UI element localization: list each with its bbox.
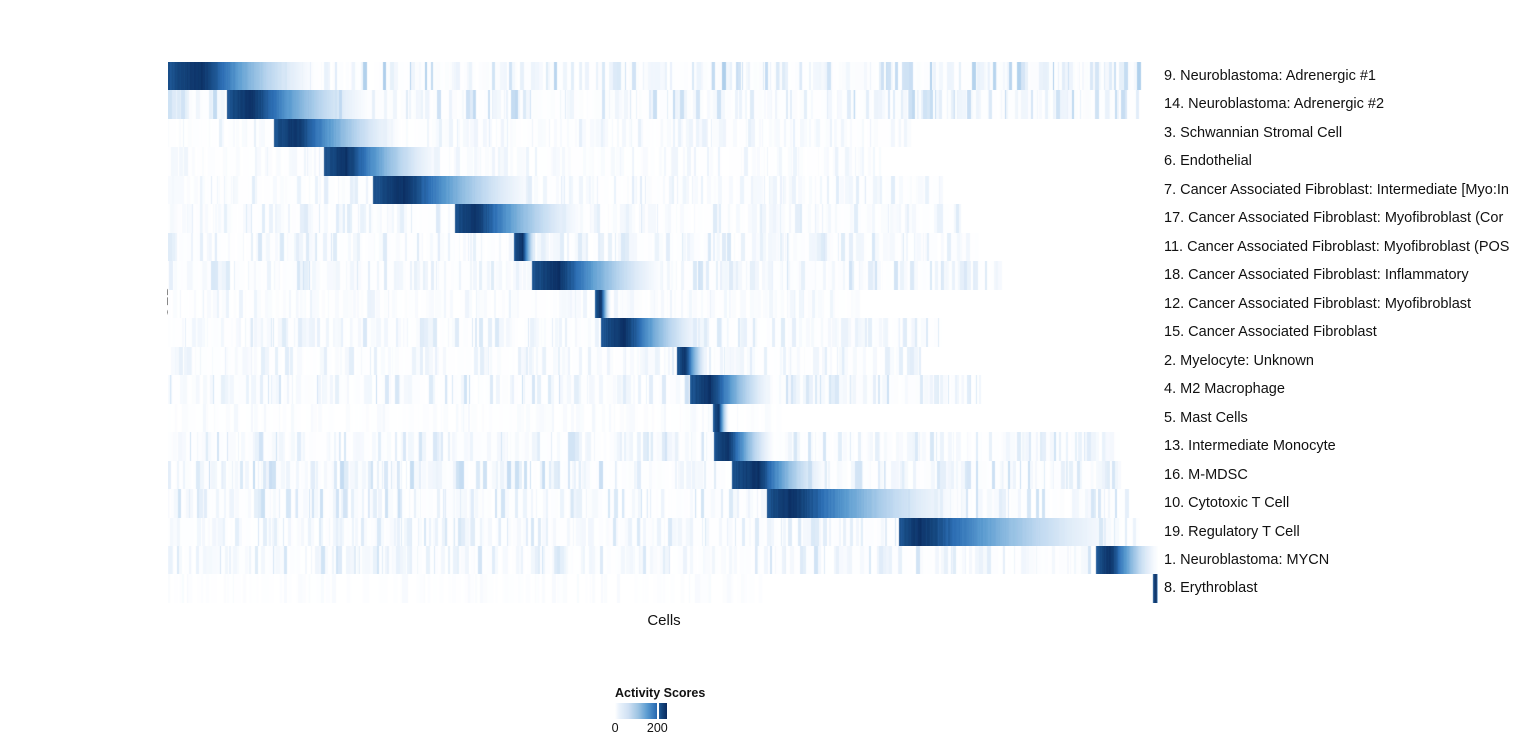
heatmap-row [168, 90, 1158, 118]
heatmap-row [168, 546, 1158, 574]
heatmap-figure: GEPs Cells 9. Neuroblastoma: Adrenergic … [0, 0, 1540, 743]
row-label: 12. Cancer Associated Fibroblast: Myofib… [1164, 290, 1471, 318]
heatmap-row [168, 461, 1158, 489]
heatmap-row-cells [168, 204, 1158, 232]
heatmap-row-cells [168, 119, 1158, 147]
heatmap-row-cells [168, 489, 1158, 517]
row-label: 16. M-MDSC [1164, 461, 1248, 489]
heatmap-row-cells [168, 90, 1158, 118]
heatmap-row [168, 204, 1158, 232]
legend-colorbar [615, 703, 667, 719]
heatmap-row [168, 347, 1158, 375]
heatmap-row-cells [168, 404, 1158, 432]
row-label: 9. Neuroblastoma: Adrenergic #1 [1164, 62, 1376, 90]
legend-tick-label: 0 [612, 721, 619, 735]
row-label: 14. Neuroblastoma: Adrenergic #2 [1164, 90, 1384, 118]
heatmap-row-cells [168, 347, 1158, 375]
row-label: 17. Cancer Associated Fibroblast: Myofib… [1164, 204, 1503, 232]
heatmap-row [168, 518, 1158, 546]
heatmap-row [168, 489, 1158, 517]
row-label: 11. Cancer Associated Fibroblast: Myofib… [1164, 233, 1509, 261]
heatmap-row [168, 147, 1158, 175]
heatmap-row-cells [168, 62, 1158, 90]
heatmap-row-cells [168, 147, 1158, 175]
heatmap-row [168, 261, 1158, 289]
heatmap-row [168, 119, 1158, 147]
row-label: 13. Intermediate Monocyte [1164, 432, 1336, 460]
heatmap-row-cells [168, 318, 1158, 346]
legend-tick-label: 200 [647, 721, 668, 735]
heatmap-row [168, 318, 1158, 346]
row-label: 6. Endothelial [1164, 147, 1252, 175]
heatmap-row-cells [168, 574, 1158, 602]
row-label-column: 9. Neuroblastoma: Adrenergic #114. Neuro… [1164, 62, 1540, 603]
heatmap-row [168, 62, 1158, 90]
row-label: 5. Mast Cells [1164, 404, 1248, 432]
heatmap-row [168, 375, 1158, 403]
x-axis-label: Cells [564, 612, 764, 629]
heatmap-row-cells [168, 375, 1158, 403]
row-label: 10. Cytotoxic T Cell [1164, 489, 1289, 517]
heatmap-row-cells [168, 176, 1158, 204]
legend-tick [657, 703, 659, 719]
heatmap-row-cells [168, 290, 1158, 318]
heatmap-row-cells [168, 546, 1158, 574]
heatmap-row [168, 404, 1158, 432]
row-label: 19. Regulatory T Cell [1164, 518, 1300, 546]
legend: Activity Scores 0200 [560, 686, 820, 742]
row-label: 1. Neuroblastoma: MYCN [1164, 546, 1329, 574]
heatmap-row [168, 290, 1158, 318]
heatmap-row-cells [168, 233, 1158, 261]
legend-title: Activity Scores [615, 686, 705, 700]
row-label: 3. Schwannian Stromal Cell [1164, 119, 1342, 147]
heatmap-grid [168, 62, 1158, 603]
row-label: 7. Cancer Associated Fibroblast: Interme… [1164, 176, 1509, 204]
heatmap-row-cells [168, 518, 1158, 546]
row-label: 8. Erythroblast [1164, 574, 1258, 602]
row-label: 2. Myelocyte: Unknown [1164, 347, 1314, 375]
row-label: 4. M2 Macrophage [1164, 375, 1285, 403]
heatmap-row [168, 233, 1158, 261]
row-label: 18. Cancer Associated Fibroblast: Inflam… [1164, 261, 1469, 289]
heatmap-row-cells [168, 432, 1158, 460]
heatmap-row-cells [168, 461, 1158, 489]
heatmap-row [168, 176, 1158, 204]
row-label: 15. Cancer Associated Fibroblast [1164, 318, 1377, 346]
heatmap-row [168, 574, 1158, 602]
heatmap-row-cells [168, 261, 1158, 289]
heatmap-row [168, 432, 1158, 460]
